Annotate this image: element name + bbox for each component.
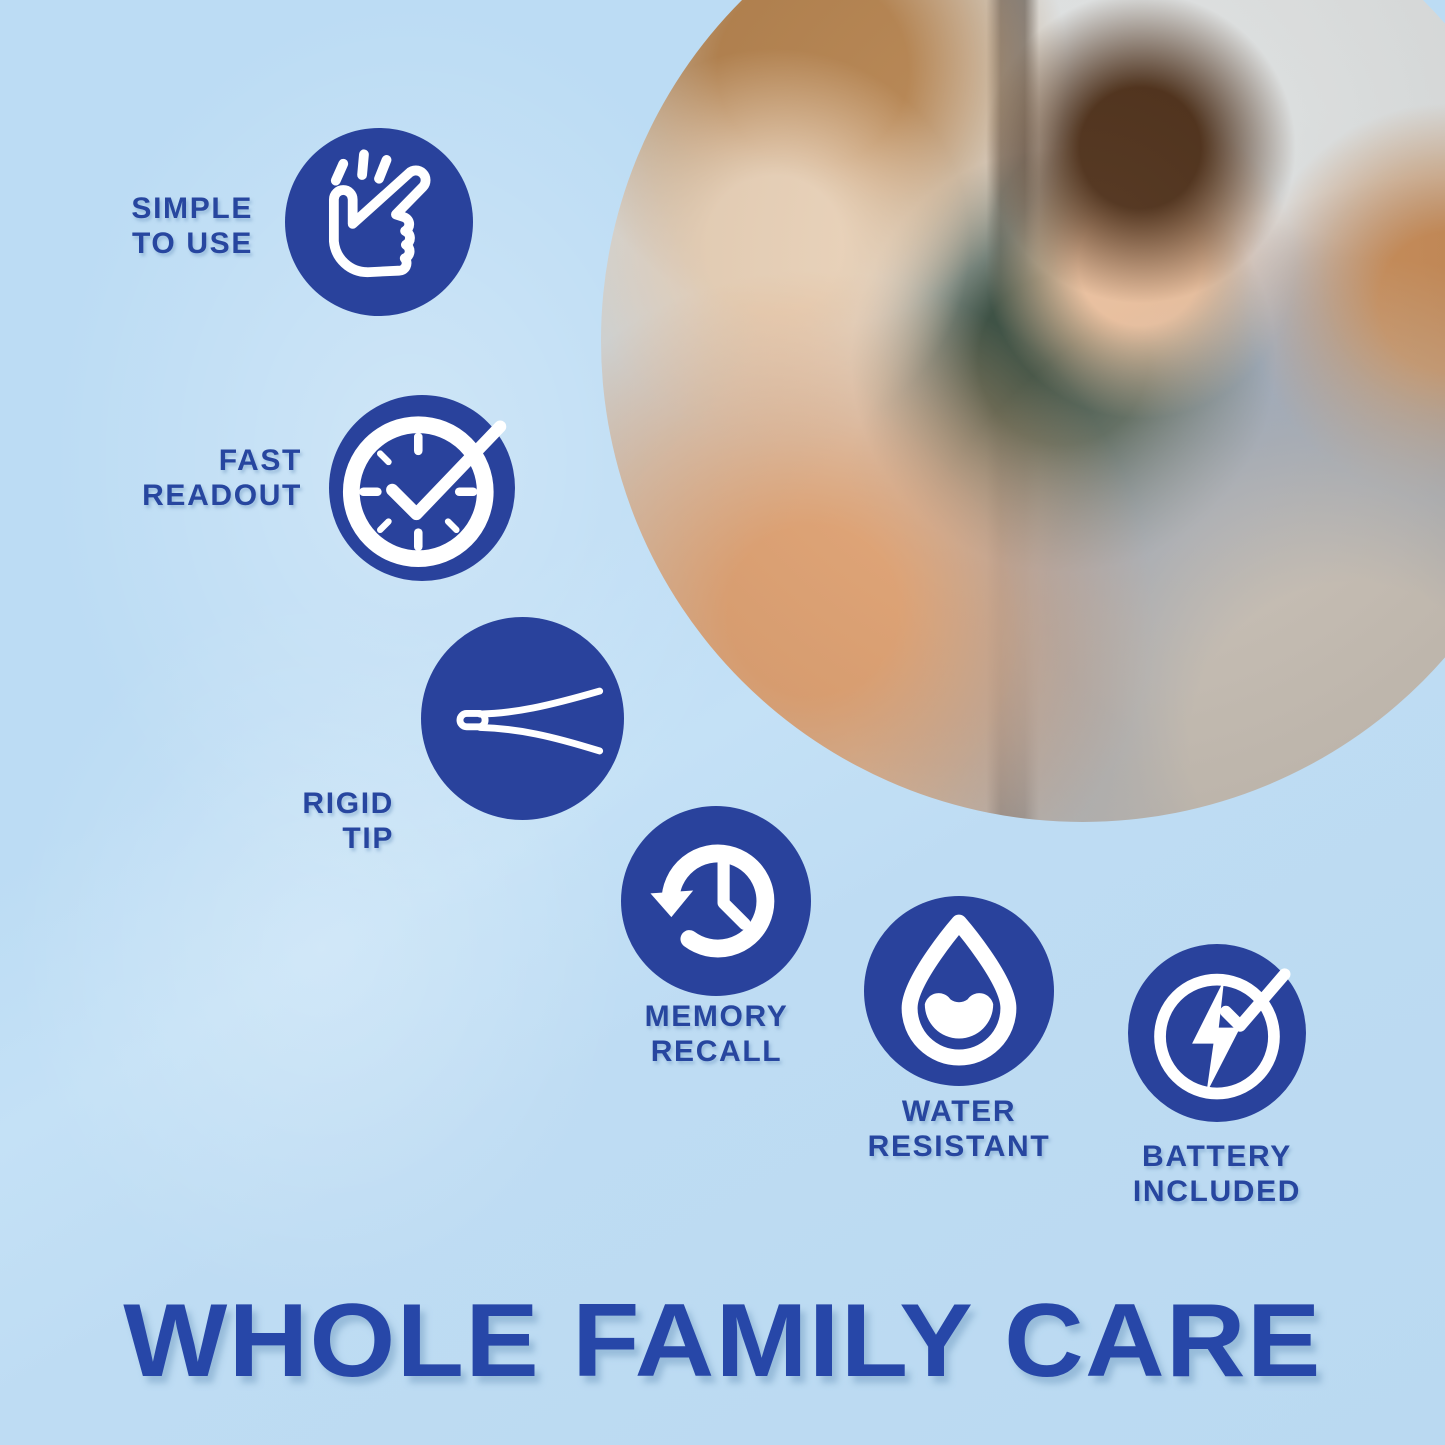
water-droplet-icon: [864, 896, 1054, 1086]
feature-label-fast-readout: FAST READOUT: [80, 444, 302, 514]
clock-history-icon: [621, 806, 811, 996]
page-headline: WHOLE FAMILY CARE: [0, 1282, 1445, 1401]
battery-bolt-check-icon: [1128, 944, 1306, 1122]
family-photo-vignette: [601, 0, 1445, 822]
clock-check-icon: [329, 395, 515, 581]
infographic-canvas: SIMPLE TO USE FAST READOUT: [0, 0, 1445, 1445]
feature-label-rigid-tip: RIGID TIP: [180, 787, 394, 857]
feature-label-memory-recall: MEMORY RECALL: [533, 1000, 900, 1070]
family-photo: [601, 0, 1445, 822]
pointing-hand-icon: [285, 128, 473, 316]
feature-label-battery-included: BATTERY INCLUDED: [1041, 1140, 1393, 1210]
feature-label-simple-to-use: SIMPLE TO USE: [28, 192, 253, 262]
thermometer-tip-icon: [421, 617, 624, 820]
